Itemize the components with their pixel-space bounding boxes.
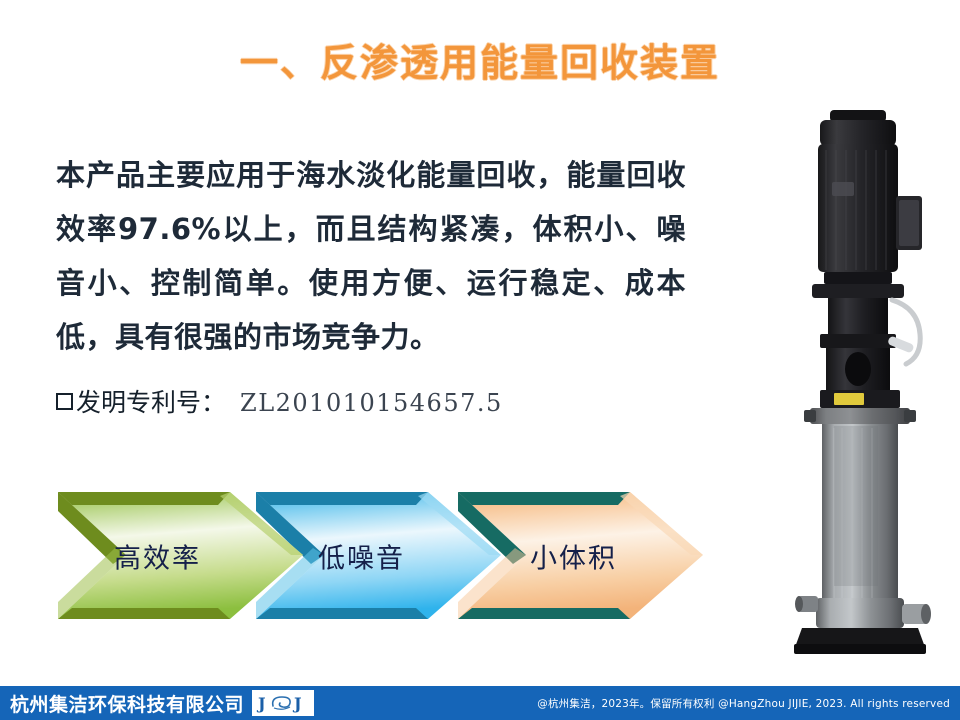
footer-company-name: 杭州集洁环保科技有限公司 — [10, 690, 244, 717]
footer-copyright: @杭州集洁，2023年。保留所有权利 @HangZhou JIJIE, 2023… — [537, 696, 950, 711]
svg-text:J: J — [256, 694, 266, 713]
page-title: 一、反渗透用能量回收装置 — [0, 32, 960, 87]
square-bullet-icon — [56, 393, 73, 410]
patent-number-value: ZL201010154657.5 — [240, 389, 503, 417]
patent-label: 发明专利号： — [76, 383, 226, 419]
product-photo — [768, 104, 954, 660]
body-paragraph: 本产品主要应用于海水淡化能量回收，能量回收效率97.6%以上，而且结构紧凑，体积… — [56, 148, 686, 364]
chevron-label-2: 低噪音 — [318, 536, 405, 575]
footer-bar: 杭州集洁环保科技有限公司 J J @杭州集洁，2023年。保留所有权利 @Han… — [0, 686, 960, 720]
chevron-label-1: 高效率 — [114, 536, 201, 575]
chevron-step-1: 高效率 — [58, 478, 316, 633]
chevron-label-3: 小体积 — [530, 536, 617, 575]
chevron-process-row: 高效率 低噪音 — [58, 478, 698, 633]
svg-text:J: J — [292, 694, 302, 713]
company-logo-icon: J J — [252, 690, 314, 716]
slide-canvas: 一、反渗透用能量回收装置 本产品主要应用于海水淡化能量回收，能量回收效率97.6… — [0, 0, 960, 720]
patent-row: 发明专利号： ZL201010154657.5 — [56, 383, 503, 419]
